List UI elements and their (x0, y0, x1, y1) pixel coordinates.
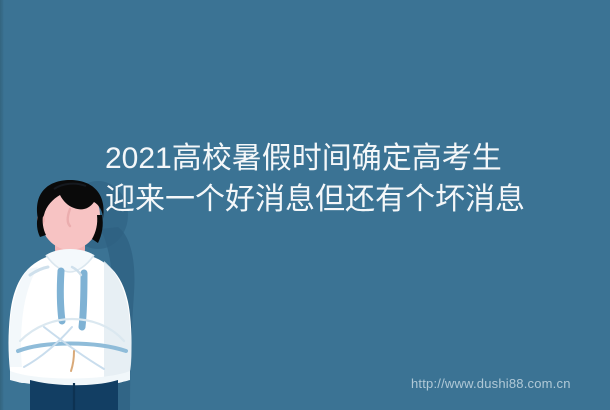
watermark-url: http://www.dushi88.com.cn (411, 376, 571, 391)
headline: 2021高校暑假时间确定高考生 迎来一个好消息但还有个坏消息 (105, 138, 600, 220)
headline-line-2: 迎来一个好消息但还有个坏消息 (105, 179, 600, 220)
news-banner-image: 2021高校暑假时间确定高考生 迎来一个好消息但还有个坏消息 http://ww… (0, 0, 610, 410)
pants (30, 380, 118, 410)
headline-line-1: 2021高校暑假时间确定高考生 (105, 138, 600, 179)
